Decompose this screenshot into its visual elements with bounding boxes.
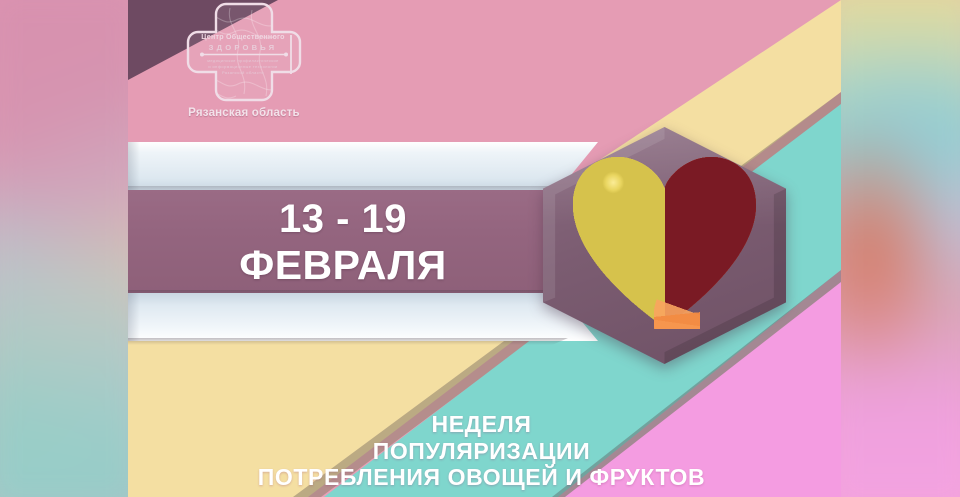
blurred-right-padding (841, 0, 960, 497)
poster-root: Центр Общественного ЗДОРОВЬЯ медицинские… (0, 0, 960, 497)
date-month-text: ФЕВРАЛЯ (239, 245, 447, 286)
heart-yellow-half (573, 155, 665, 327)
hexagon-badge (543, 127, 786, 364)
headline-line-1: НЕДЕЛЯ (128, 411, 835, 438)
logo-line-2: ЗДОРОВЬЯ (209, 43, 278, 52)
campaign-headline: НЕДЕЛЯ ПОПУЛЯРИЗАЦИИ ПОТРЕБЛЕНИЯ ОВОЩЕЙ … (128, 411, 841, 491)
ribbon-shadow-lower (128, 338, 598, 345)
ribbon-top-light-band (128, 142, 598, 191)
logo-region-label: Рязанская область (160, 107, 328, 119)
logo-line-5: Рязанской области (222, 70, 264, 75)
headline-line-3: ПОТРЕБЛЕНИЯ ОВОЩЕЙ И ФРУКТОВ (128, 464, 835, 491)
ribbon-bottom-light-band (128, 293, 598, 341)
logo-line-4: и информационные технологии (208, 64, 277, 69)
organization-logo: Центр Общественного ЗДОРОВЬЯ медицинские… (160, 2, 328, 128)
date-range-text: 13 - 19 (279, 199, 407, 239)
heart-of-produce-image (573, 155, 756, 327)
logo-line-3: медицинские профилактические (207, 58, 279, 63)
poster-artboard: Центр Общественного ЗДОРОВЬЯ медицинские… (128, 0, 841, 497)
logo-line-1: Центр Общественного (201, 33, 285, 41)
blurred-left-padding (0, 0, 128, 497)
date-block: 13 - 19 ФЕВРАЛЯ (128, 190, 558, 294)
headline-line-2: ПОПУЛЯРИЗАЦИИ (128, 438, 835, 465)
medical-cross-icon: Центр Общественного ЗДОРОВЬЯ медицинские… (186, 2, 302, 102)
